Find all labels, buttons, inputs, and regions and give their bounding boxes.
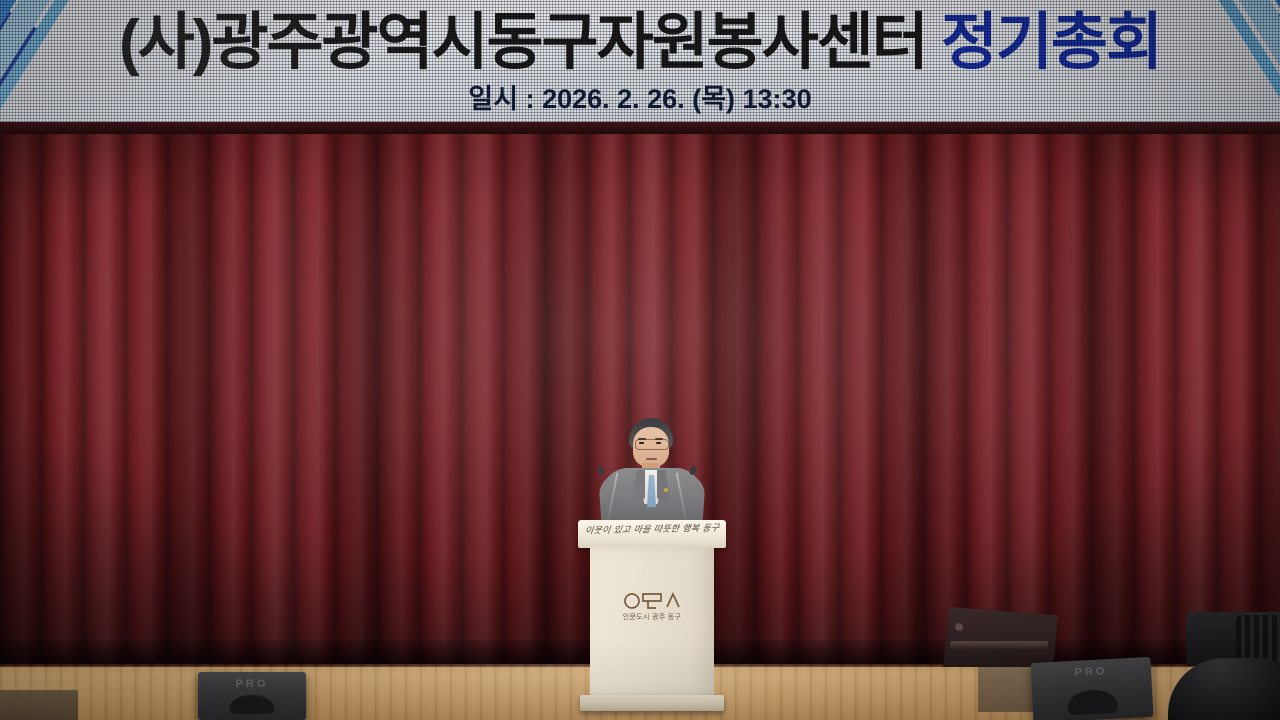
- humanities-city-logo-icon: [623, 589, 681, 611]
- foreground-object-left: [0, 690, 78, 720]
- mic-stem: [606, 473, 618, 526]
- banner-frame: [0, 122, 1280, 134]
- podium-top-surface: 이웃이 있고 마을 따뜻한 행복 동구: [578, 520, 726, 548]
- banner-title: (사)광주광역시동구자원봉사센터정기총회: [0, 6, 1280, 80]
- speaker-mouth: [646, 458, 657, 460]
- floor-monitor-left: PRO: [198, 672, 306, 720]
- speaker-eye-right: [656, 442, 661, 444]
- speaker-logo-icon: [955, 623, 963, 631]
- podium-slogan: 이웃이 있고 마을 따뜻한 행복 동구: [578, 523, 726, 537]
- mic-head-icon: [597, 465, 606, 476]
- led-banner-screen: (사)광주광역시동구자원봉사센터정기총회 일시 : 2026. 2. 26. (…: [0, 0, 1280, 128]
- speaker-brow-right: [655, 438, 663, 440]
- monitor-port: [1067, 689, 1119, 716]
- speaker-eye-left: [639, 442, 644, 444]
- glasses-icon: [635, 439, 669, 450]
- floor-monitor-right: PRO: [1031, 657, 1154, 720]
- podium-front-panel: 인문도시 광주 동구: [590, 547, 714, 697]
- microphone-right: [676, 462, 702, 524]
- podium-base: [580, 695, 724, 711]
- mic-head-icon: [689, 465, 698, 476]
- microphone-left: [592, 462, 618, 524]
- podium: 이웃이 있고 마을 따뜻한 행복 동구 인문도시 광주 동구: [586, 520, 718, 718]
- podium-logo: 인문도시 광주 동구: [590, 589, 714, 622]
- speaker-grille: [950, 641, 1048, 651]
- monitor-brand-label: PRO: [1031, 663, 1151, 681]
- stage-wedge-monitor: [938, 607, 1058, 667]
- camera-lens-icon: [1236, 615, 1280, 663]
- podium-logo-text: 인문도시 광주 동구: [590, 614, 714, 622]
- lapel-pin-icon: [664, 488, 668, 492]
- banner-subtitle: 일시 : 2026. 2. 26. (목) 13:30: [0, 84, 1280, 114]
- banner-title-accent: 정기총회: [941, 8, 1161, 77]
- monitor-brand-label: PRO: [198, 678, 306, 690]
- stage-scene: (사)광주광역시동구자원봉사센터정기총회 일시 : 2026. 2. 26. (…: [0, 0, 1280, 720]
- speaker-brow-left: [638, 438, 646, 440]
- banner-title-main: (사)광주광역시동구자원봉사센터: [119, 8, 927, 77]
- mic-stem: [676, 473, 688, 526]
- monitor-port: [229, 695, 274, 714]
